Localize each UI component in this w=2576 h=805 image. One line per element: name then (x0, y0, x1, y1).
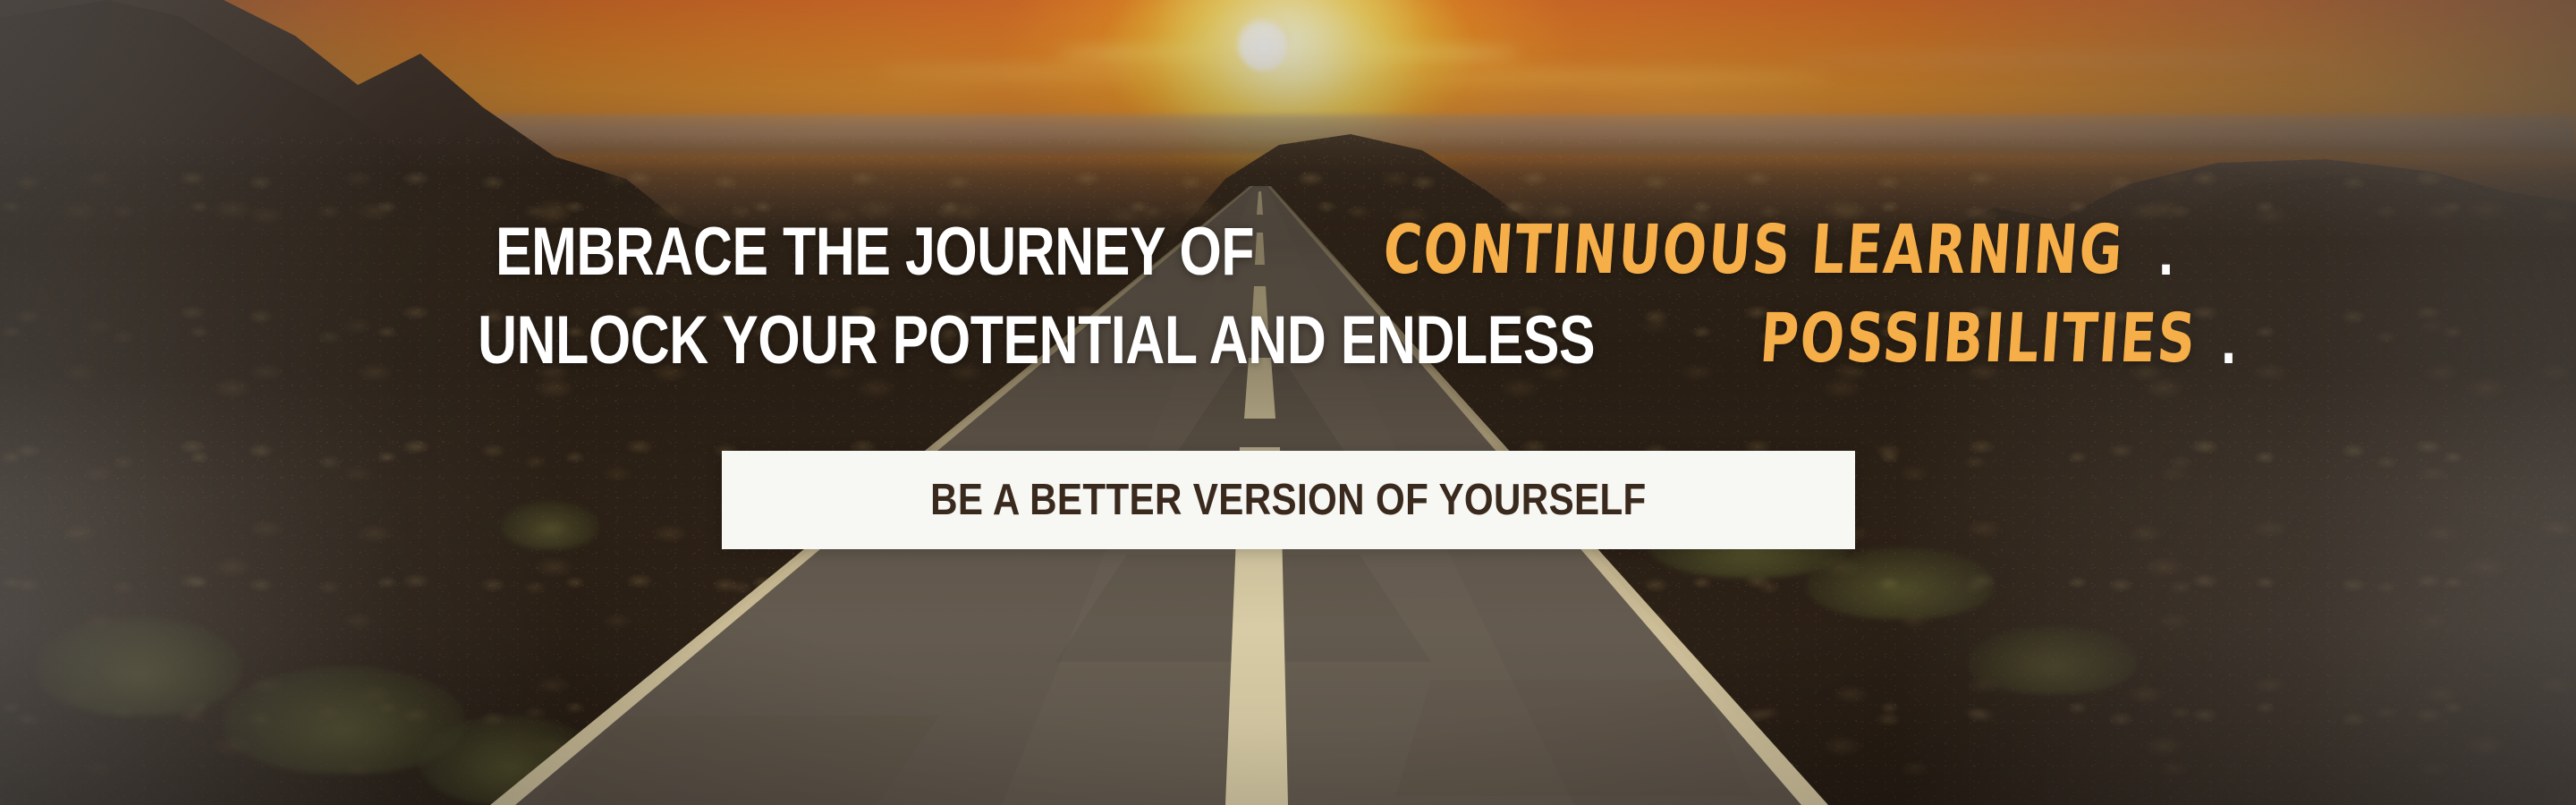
headline-line-2-period: . (2221, 309, 2236, 374)
be-a-better-version-button[interactable]: BE A BETTER VERSION OF YOURSELF (722, 451, 1855, 549)
motivational-hero-banner: EMBRACE THE JOURNEY OFCONTINUOUS LEARNIN… (0, 0, 2576, 805)
banner-content: EMBRACE THE JOURNEY OFCONTINUOUS LEARNIN… (0, 0, 2576, 805)
headline-line-2-accent: POSSIBILITIES (1758, 306, 2199, 371)
headline-line-1-period: . (2158, 220, 2173, 285)
headline-line-1: EMBRACE THE JOURNEY OFCONTINUOUS LEARNIN… (0, 220, 2576, 285)
headline-line-2: UNLOCK YOUR POTENTIAL AND ENDLESSPOSSIBI… (0, 309, 2576, 374)
headline: EMBRACE THE JOURNEY OFCONTINUOUS LEARNIN… (0, 220, 2576, 374)
cta-container: BE A BETTER VERSION OF YOURSELF (0, 451, 2576, 549)
headline-line-1-plain: EMBRACE THE JOURNEY OF (496, 220, 1254, 285)
cta-button-label: BE A BETTER VERSION OF YOURSELF (930, 475, 1646, 525)
headline-line-2-plain: UNLOCK YOUR POTENTIAL AND ENDLESS (478, 309, 1595, 374)
headline-line-1-accent: CONTINUOUS LEARNING (1382, 217, 2127, 283)
